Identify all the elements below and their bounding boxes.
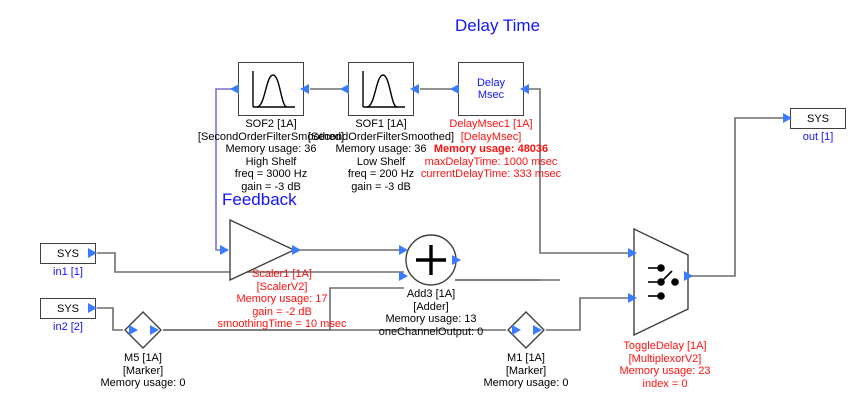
- delaymsec-line-1: [DelayMsec]: [391, 131, 591, 144]
- bandpass-curve-icon: [239, 63, 303, 115]
- in2-label: SYS: [57, 303, 79, 315]
- toggledelay-caption: ToggleDelay [1A] [MultiplexorV2] Memory …: [605, 340, 725, 390]
- toggledelay-line-1: [MultiplexorV2]: [605, 353, 725, 366]
- block-m5[interactable]: [123, 310, 163, 350]
- add3-caption: Add3 [1A] [Adder] Memory usage: 13 oneCh…: [366, 288, 496, 338]
- m1-caption: M1 [1A] [Marker] Memory usage: 0: [466, 352, 586, 390]
- sof2-input-port[interactable]: [300, 84, 309, 94]
- scaler1-line-3: gain = -2 dB: [192, 306, 372, 319]
- m1-line-0: M1 [1A]: [466, 352, 586, 365]
- toggledelay-input-port-2[interactable]: [628, 293, 637, 303]
- m1-input-port[interactable]: [512, 325, 521, 335]
- block-add3[interactable]: [404, 233, 458, 287]
- in2-caption: in2 [2]: [28, 321, 108, 334]
- delaymsec-output-port[interactable]: [450, 84, 459, 94]
- title-feedback: Feedback: [222, 190, 297, 210]
- add3-input-port-2[interactable]: [399, 271, 408, 281]
- title-delay-time: Delay Time: [455, 16, 540, 36]
- multiplexor-trapezoid-icon[interactable]: [632, 227, 692, 337]
- in1-label: SYS: [57, 248, 79, 260]
- sof2-body[interactable]: [238, 62, 304, 116]
- m1-output-port[interactable]: [533, 325, 542, 335]
- scaler1-line-4: smoothingTime = 10 msec: [192, 318, 372, 331]
- delaymsec-input-port[interactable]: [520, 84, 529, 94]
- toggledelay-line-2: Memory usage: 23: [605, 365, 725, 378]
- scaler1-output-port[interactable]: [292, 245, 301, 255]
- out1-caption: out [1]: [778, 131, 858, 144]
- add3-line-2: Memory usage: 13: [366, 313, 496, 326]
- block-m1[interactable]: [506, 310, 546, 350]
- toggledelay-output-port[interactable]: [684, 271, 693, 281]
- out1-body[interactable]: SYS: [790, 108, 846, 129]
- in2-output-port[interactable]: [88, 303, 97, 313]
- delaymsec-caption: DelayMsec1 [1A] [DelayMsec] Memory usage…: [391, 118, 591, 181]
- m1-line-1: [Marker]: [466, 365, 586, 378]
- out1-input-port[interactable]: [783, 113, 792, 123]
- scaler1-line-1: [ScalerV2]: [192, 281, 372, 294]
- m5-line-1: [Marker]: [83, 365, 203, 378]
- sof1-line-5: gain = -3 dB: [281, 181, 481, 194]
- wire-mux-to-out: [690, 118, 783, 276]
- delaymsec-line-4: currentDelayTime: 333 msec: [391, 168, 591, 181]
- sof1-body[interactable]: [348, 62, 414, 116]
- toggledelay-line-3: index = 0: [605, 378, 725, 391]
- scaler1-line-2: Memory usage: 17: [192, 293, 372, 306]
- m1-line-2: Memory usage: 0: [466, 377, 586, 390]
- delaymsec-line-2: Memory usage: 48036: [391, 143, 591, 156]
- wire-m1-to-mux-bottom: [546, 298, 636, 330]
- add3-input-port-1[interactable]: [399, 245, 408, 255]
- in1-output-port[interactable]: [88, 248, 97, 258]
- m5-caption: M5 [1A] [Marker] Memory usage: 0: [83, 352, 203, 390]
- add3-line-1: [Adder]: [366, 301, 496, 314]
- sof1-input-port[interactable]: [410, 84, 419, 94]
- delaymsec-line-3: maxDelayTime: 1000 msec: [391, 156, 591, 169]
- delaymsec-inner-label: Delay Msec: [477, 77, 505, 102]
- add3-line-0: Add3 [1A]: [366, 288, 496, 301]
- add3-line-3: oneChannelOutput: 0: [366, 326, 496, 339]
- delaymsec-body[interactable]: Delay Msec: [458, 62, 524, 116]
- m5-input-port[interactable]: [129, 325, 138, 335]
- sof2-output-port[interactable]: [230, 84, 239, 94]
- m5-line-2: Memory usage: 0: [83, 377, 203, 390]
- scaler1-caption: Scaler1 [1A] [ScalerV2] Memory usage: 17…: [192, 268, 372, 331]
- signal-flow-canvas: Delay Time Feedback SOF2 [1A] [SecondOrd…: [0, 0, 863, 411]
- bandpass-curve-icon: [349, 63, 413, 115]
- block-toggledelay[interactable]: [632, 227, 692, 337]
- scaler1-line-0: Scaler1 [1A]: [192, 268, 372, 281]
- sof1-output-port[interactable]: [340, 84, 349, 94]
- out1-label: SYS: [807, 113, 829, 125]
- m5-line-0: M5 [1A]: [83, 352, 203, 365]
- scaler1-input-port[interactable]: [220, 245, 229, 255]
- delaymsec-line-0: DelayMsec1 [1A]: [391, 118, 591, 131]
- m5-output-port[interactable]: [150, 325, 159, 335]
- in1-caption: in1 [1]: [28, 266, 108, 279]
- adder-circle-icon[interactable]: [404, 233, 458, 287]
- toggledelay-input-port-1[interactable]: [628, 248, 637, 258]
- add3-output-port[interactable]: [452, 255, 461, 265]
- toggledelay-line-0: ToggleDelay [1A]: [605, 340, 725, 353]
